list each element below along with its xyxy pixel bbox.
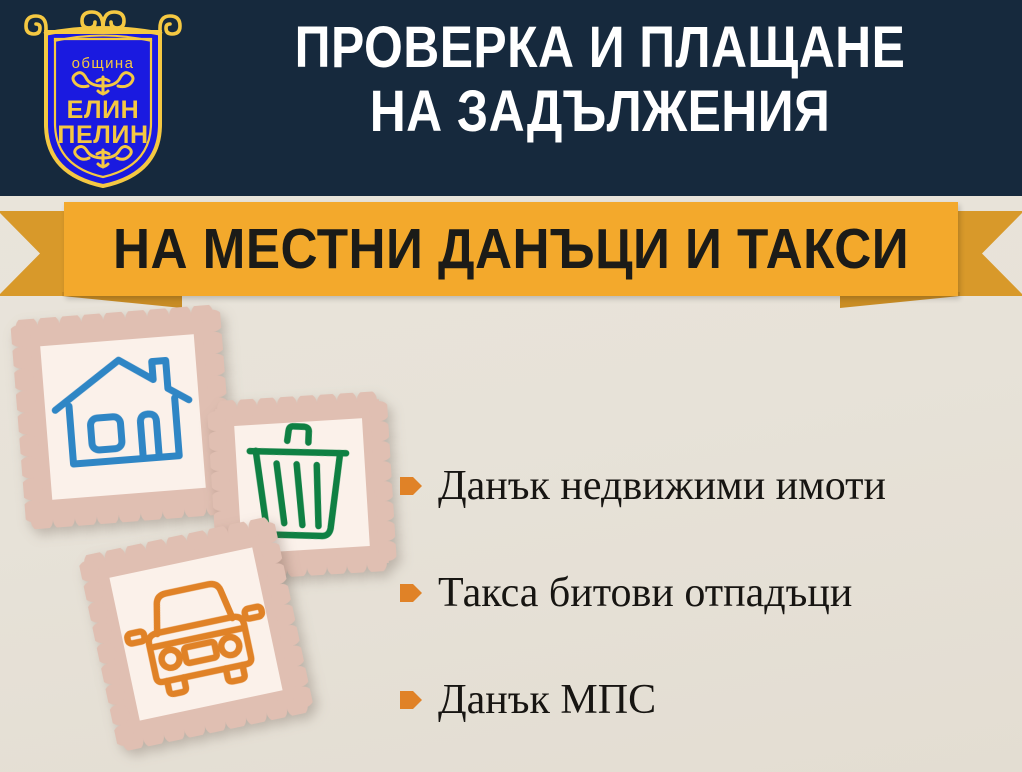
list-item: Данък МПС <box>400 646 1010 753</box>
crest-icon: община ЕЛИН ПЕЛИН <box>18 6 188 188</box>
crest-word-elin: ЕЛИН <box>67 96 140 124</box>
ribbon-banner: НА МЕСТНИ ДАНЪЦИ И ТАКСИ <box>0 196 1022 314</box>
list-item-label: Данък МПС <box>438 679 656 721</box>
arrow-bullet-icon <box>400 688 422 712</box>
list-item-label: Данък недвижими имоти <box>438 465 886 507</box>
crest-word-pelin: ПЕЛИН <box>57 121 148 149</box>
tax-types-list: Данък недвижими имоти Такса битови отпад… <box>400 432 1010 753</box>
ribbon-label: НА МЕСТНИ ДАНЪЦИ И ТАКСИ <box>109 202 914 296</box>
arrow-bullet-icon <box>400 474 422 498</box>
arrow-bullet-icon <box>400 581 422 605</box>
stamp-card-property <box>10 304 236 530</box>
poster-canvas: община ЕЛИН ПЕЛИН <box>0 0 1022 772</box>
page-title: ПРОВЕРКА И ПЛАЩАНЕ НА ЗАДЪЛЖЕНИЯ <box>243 16 957 144</box>
list-item: Данък недвижими имоти <box>400 432 1010 539</box>
municipality-crest-logo: община ЕЛИН ПЕЛИН <box>18 6 188 188</box>
list-item-label: Такса битови отпадъци <box>438 572 852 614</box>
header-bar: община ЕЛИН ПЕЛИН <box>0 0 1022 196</box>
crest-word-obshtina: община <box>72 55 135 72</box>
list-item: Такса битови отпадъци <box>400 539 1010 646</box>
stamp-card-vehicle <box>77 515 314 752</box>
